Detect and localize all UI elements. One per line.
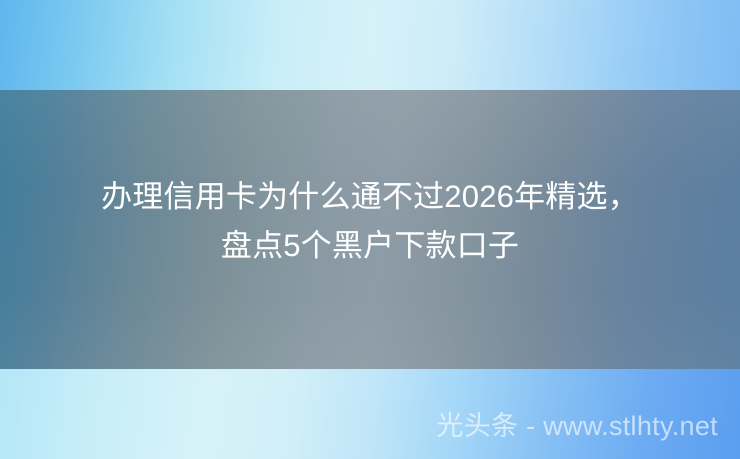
background-top-band: [0, 0, 740, 91]
headline-title: 办理信用卡为什么通不过2026年精选， 盘点5个黑户下款口子: [0, 172, 740, 270]
cover-image-canvas: 办理信用卡为什么通不过2026年精选， 盘点5个黑户下款口子 光头条 - www…: [0, 0, 740, 459]
site-watermark: 光头条 - www.stlhty.net: [436, 409, 718, 443]
